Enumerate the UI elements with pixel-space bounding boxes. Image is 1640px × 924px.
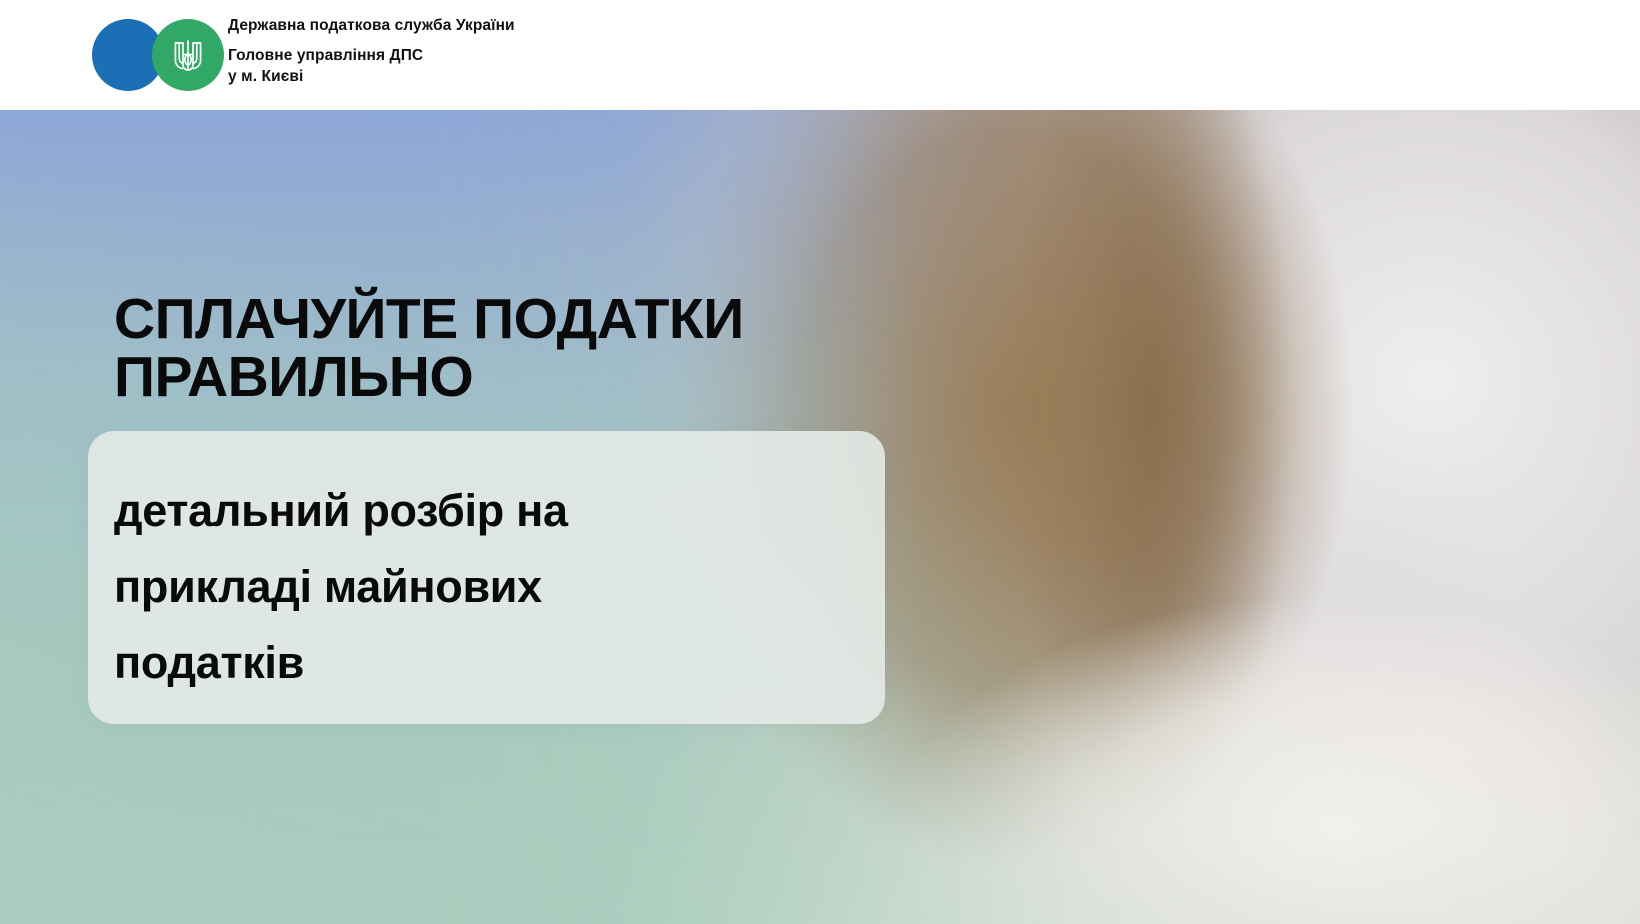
hero-section: СПЛАЧУЙТЕ ПОДАТКИ ПРАВИЛЬНО детальний ро…	[0, 110, 1640, 924]
org-title: Державна податкова служба України	[228, 16, 928, 36]
promo-banner-page: Державна податкова служба України Головн…	[0, 0, 1640, 924]
hero-headline: СПЛАЧУЙТЕ ПОДАТКИ ПРАВИЛЬНО	[114, 290, 954, 406]
header-bar: Державна податкова служба України Головн…	[0, 0, 1640, 110]
subtitle-card: детальний розбір на прикладі майнових по…	[88, 431, 885, 724]
hero-subtitle: детальний розбір на прикладі майнових по…	[114, 473, 844, 701]
org-subtitle: Головне управління ДПС у м. Києві	[228, 45, 928, 87]
dps-logo[interactable]	[92, 19, 212, 91]
header-text-block: Державна податкова служба України Головн…	[228, 16, 928, 87]
ukraine-trident-icon	[171, 34, 205, 76]
logo-green-circle-icon	[152, 19, 224, 91]
